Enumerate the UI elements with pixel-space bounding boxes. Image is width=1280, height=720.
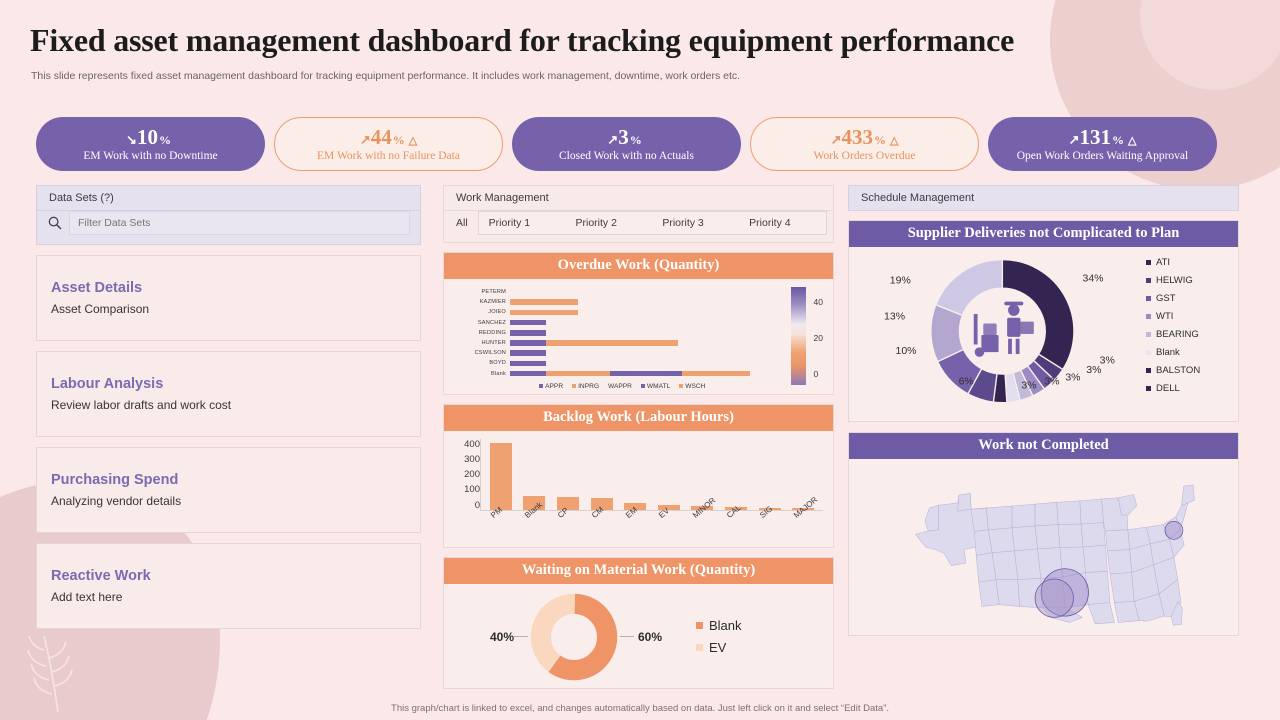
backlog-y-tick: 0 <box>454 500 480 511</box>
trend-up-arrow-icon: ↗ <box>607 133 618 147</box>
overdue-bar-segment <box>510 361 546 367</box>
overdue-row: HUNTER <box>454 338 791 348</box>
filter-data-sets-input[interactable] <box>69 211 410 235</box>
legend-label: DELL <box>1156 383 1180 394</box>
legend-swatch <box>539 384 543 388</box>
donut-value-label: 3% <box>1021 380 1036 391</box>
legend-swatch <box>1146 386 1151 391</box>
backlog-y-tick: 200 <box>454 469 480 480</box>
overdue-legend-item: INPRG <box>572 383 599 390</box>
work-not-completed-card: Work not Completed <box>848 432 1239 636</box>
overdue-legend-item: WSCH <box>679 383 705 390</box>
overdue-bar-segment <box>546 340 610 346</box>
kpi-label: Open Work Orders Waiting Approval <box>1017 150 1188 162</box>
kpi-label: EM Work with no Failure Data <box>317 150 460 162</box>
donut-value-label: 3% <box>1065 373 1080 384</box>
backlog-y-tick: 400 <box>454 439 480 450</box>
alert-triangle-icon: △ <box>890 136 898 148</box>
backlog-y-tick: 300 <box>454 454 480 465</box>
overdue-row-label: JOIEO <box>454 309 510 315</box>
overdue-row-track <box>510 287 791 297</box>
overdue-bar-segment <box>510 371 546 377</box>
legend-label: BALSTON <box>1156 365 1200 376</box>
trend-up-arrow-icon: ↗ <box>831 133 842 147</box>
legend-label-blank: Blank <box>709 618 742 633</box>
supplier-legend-item: BALSTON <box>1146 365 1232 376</box>
tab-priority-1[interactable]: Priority 1 <box>479 212 566 234</box>
sidebar-item-title: Purchasing Spend <box>51 472 420 488</box>
delivery-worker-icon <box>974 302 1034 357</box>
legend-swatch <box>1146 278 1151 283</box>
us-map-graphic <box>879 467 1209 627</box>
waiting-material-legend: Blank EV <box>682 618 742 655</box>
supplier-deliveries-title: Supplier Deliveries not Complicated to P… <box>849 221 1238 247</box>
overdue-row-label: KAZMIER <box>454 299 510 305</box>
legend-swatch <box>1146 350 1151 355</box>
search-icon <box>47 215 63 231</box>
overdue-row-label: Blank <box>454 371 510 377</box>
work-not-completed-title: Work not Completed <box>849 433 1238 459</box>
kpi-value: ↘10% <box>126 126 175 148</box>
overdue-row: CSWILSON <box>454 348 791 358</box>
tab-priority-2[interactable]: Priority 2 <box>566 212 653 234</box>
overdue-row-label: REDDING <box>454 330 510 336</box>
tab-priority-3[interactable]: Priority 3 <box>652 212 739 234</box>
legend-swatch <box>641 384 645 388</box>
overdue-bar-segment <box>510 299 578 305</box>
overdue-bar-segment <box>610 371 682 377</box>
legend-label: WTI <box>1156 311 1173 322</box>
supplier-deliveries-legend: ATIHELWIGGSTWTIBEARINGBlankBALSTONDELL <box>1146 251 1232 417</box>
trend-down-arrow-icon: ↘ <box>126 133 137 147</box>
overdue-work-colorbar: 40200 <box>791 287 823 390</box>
backlog-work-title: Backlog Work (Labour Hours) <box>444 405 833 431</box>
us-map[interactable] <box>849 459 1238 635</box>
legend-swatch <box>1146 314 1151 319</box>
legend-label: INPRG <box>578 383 599 390</box>
donut-value-label: 3% <box>1100 356 1115 367</box>
waiting-material-label-right: 60% <box>634 630 682 644</box>
legend-label: GST <box>1156 293 1176 304</box>
donut-slice[interactable] <box>936 260 1003 316</box>
overdue-row: BOYD <box>454 358 791 368</box>
sidebar-item-subtitle: Add text here <box>51 590 420 604</box>
overdue-legend-item: APPR <box>539 383 563 390</box>
overdue-row-track <box>510 348 791 358</box>
data-sets-panel-title: Data Sets (?) <box>36 185 421 211</box>
legend-label: BEARING <box>1156 329 1199 340</box>
donut-value-label: 6% <box>959 377 974 388</box>
legend-swatch-ev <box>696 644 703 651</box>
colorbar-gradient <box>791 287 806 385</box>
schedule-management-title: Schedule Management <box>848 185 1239 211</box>
kpi-card-em-work-no-downtime[interactable]: ↘10% EM Work with no Downtime <box>36 117 265 171</box>
supplier-legend-item: GST <box>1146 293 1232 304</box>
supplier-deliveries-donut[interactable]: 34%3%3%3%3%3%6%10%13%19% <box>853 251 1146 417</box>
supplier-legend-item: BEARING <box>1146 329 1232 340</box>
kpi-label: Work Orders Overdue <box>814 150 916 162</box>
overdue-row: REDDING <box>454 328 791 338</box>
data-sets-panel: Data Sets (?) Asset Details Asset Compar… <box>36 185 421 629</box>
backlog-y-tick: 100 <box>454 484 480 495</box>
legend-swatch <box>1146 368 1151 373</box>
sidebar-item-title: Reactive Work <box>51 568 420 584</box>
kpi-card-closed-work-no-actuals[interactable]: ↗3% Closed Work with no Actuals <box>512 117 741 171</box>
waiting-material-card: Waiting on Material Work (Quantity) 40% … <box>443 557 834 689</box>
backlog-bar[interactable] <box>490 443 512 510</box>
overdue-row: Blank <box>454 369 791 379</box>
overdue-work-legend: APPRINPRGWAPPRWMATLWSCH <box>454 383 791 390</box>
sidebar-item-subtitle: Asset Comparison <box>51 302 420 316</box>
overdue-bar-segment <box>510 340 546 346</box>
overdue-row-track <box>510 369 791 379</box>
donut-value-label: 3% <box>1044 377 1059 388</box>
overdue-work-card: Overdue Work (Quantity) PETERMKAZMIERJOI… <box>443 252 834 395</box>
legend-swatch <box>1146 260 1151 265</box>
page-subtitle: This slide represents fixed asset manage… <box>31 70 740 82</box>
donut-value-label: 34% <box>1083 274 1104 285</box>
overdue-legend-item: WAPPR <box>608 383 632 390</box>
overdue-bar-segment <box>546 371 610 377</box>
priority-tabs: All Priority 1 Priority 2 Priority 3 Pri… <box>443 211 834 243</box>
backlog-x-axis: PMBlankCPCMEMEVMINORCALSIGMAJOR <box>454 511 823 545</box>
overdue-bar-segment <box>510 320 546 326</box>
kpi-value: ↗131%△ <box>1069 126 1137 148</box>
sidebar-item-title: Labour Analysis <box>51 376 420 392</box>
legend-swatch-blank <box>696 622 703 629</box>
overdue-bar-segment <box>510 310 578 316</box>
sidebar-item-labour-analysis[interactable]: Labour Analysis Review labor drafts and … <box>36 351 421 437</box>
overdue-row-track <box>510 297 791 307</box>
overdue-row-label: PETERM <box>454 289 510 295</box>
dashboard-page: Fixed asset management dashboard for tra… <box>0 0 1280 720</box>
overdue-work-plot[interactable]: PETERMKAZMIERJOIEOSANCHEZREDDINGHUNTERCS… <box>454 287 791 390</box>
overdue-bar-segment <box>610 340 678 346</box>
overdue-row-track <box>510 328 791 338</box>
overdue-row: KAZMIER <box>454 297 791 307</box>
waiting-material-title: Waiting on Material Work (Quantity) <box>444 558 833 584</box>
colorbar-tick: 20 <box>814 333 823 343</box>
legend-label: WAPPR <box>608 383 632 390</box>
donut-value-label: 10% <box>896 346 917 357</box>
waiting-material-label-left: 40% <box>454 630 514 644</box>
footer-note: This graph/chart is linked to excel, and… <box>0 703 1280 714</box>
overdue-row: PETERM <box>454 287 791 297</box>
legend-swatch <box>679 384 683 388</box>
sidebar-item-title: Asset Details <box>51 280 420 296</box>
kpi-card-em-work-no-failure-data[interactable]: ↗44%△ EM Work with no Failure Data <box>274 117 503 171</box>
overdue-row-track <box>510 318 791 328</box>
colorbar-tick: 0 <box>814 369 823 379</box>
donut-value-label: 19% <box>890 275 911 286</box>
legend-swatch <box>572 384 576 388</box>
legend-label: WMATL <box>647 383 670 390</box>
work-management-panel: Work Management All Priority 1 Priority … <box>443 185 834 689</box>
overdue-row-label: BOYD <box>454 360 510 366</box>
kpi-card-open-work-orders-waiting-approval[interactable]: ↗131%△ Open Work Orders Waiting Approval <box>988 117 1217 171</box>
legend-label: APPR <box>545 383 563 390</box>
legend-label: WSCH <box>685 383 705 390</box>
donut-value-label: 3% <box>1086 365 1101 376</box>
supplier-deliveries-card: Supplier Deliveries not Complicated to P… <box>848 220 1239 422</box>
overdue-bar-segment <box>510 330 546 336</box>
page-title: Fixed asset management dashboard for tra… <box>30 22 1014 59</box>
overdue-bar-segment <box>510 350 546 356</box>
supplier-legend-item: WTI <box>1146 311 1232 322</box>
kpi-row: ↘10% EM Work with no Downtime ↗44%△ EM W… <box>36 117 1217 171</box>
backlog-y-axis: 4003002001000 <box>454 439 480 511</box>
legend-label-ev: EV <box>709 640 726 655</box>
sidebar-item-asset-details[interactable]: Asset Details Asset Comparison <box>36 255 421 341</box>
colorbar-ticks: 40200 <box>806 287 823 385</box>
overdue-work-title: Overdue Work (Quantity) <box>444 253 833 279</box>
kpi-value: ↗44%△ <box>360 126 417 148</box>
trend-up-arrow-icon: ↗ <box>360 133 371 147</box>
supplier-legend-item: HELWIG <box>1146 275 1232 286</box>
sidebar-item-subtitle: Analyzing vendor details <box>51 494 420 508</box>
overdue-bar-segment <box>682 371 750 377</box>
overdue-row-label: HUNTER <box>454 340 510 346</box>
supplier-legend-item: DELL <box>1146 383 1232 394</box>
legend-swatch <box>1146 296 1151 301</box>
legend-label: Blank <box>1156 347 1180 358</box>
legend-label: HELWIG <box>1156 275 1193 286</box>
legend-label: ATI <box>1156 257 1170 268</box>
supplier-legend-item: Blank <box>1146 347 1232 358</box>
sidebar-item-reactive-work[interactable]: Reactive Work Add text here <box>36 543 421 629</box>
overdue-row-label: SANCHEZ <box>454 320 510 326</box>
overdue-row-track <box>510 338 791 348</box>
work-management-title: Work Management <box>443 185 834 211</box>
tab-all[interactable]: All <box>452 213 478 233</box>
overdue-row-track <box>510 307 791 317</box>
sidebar-item-subtitle: Review labor drafts and work cost <box>51 398 420 412</box>
kpi-label: Closed Work with no Actuals <box>559 150 694 162</box>
overdue-row: SANCHEZ <box>454 318 791 328</box>
trend-up-arrow-icon: ↗ <box>1069 133 1080 147</box>
donut-value-label: 13% <box>884 312 905 323</box>
supplier-legend-item: ATI <box>1146 257 1232 268</box>
colorbar-tick: 40 <box>814 297 823 307</box>
kpi-value: ↗433%△ <box>831 126 899 148</box>
kpi-label: EM Work with no Downtime <box>83 150 217 162</box>
waiting-material-donut[interactable] <box>528 591 620 683</box>
legend-swatch <box>1146 332 1151 337</box>
overdue-legend-item: WMATL <box>641 383 670 390</box>
leaf-ornament-icon <box>18 624 88 714</box>
overdue-row: JOIEO <box>454 307 791 317</box>
kpi-card-work-orders-overdue[interactable]: ↗433%△ Work Orders Overdue <box>750 117 979 171</box>
alert-triangle-icon: △ <box>1128 136 1136 148</box>
kpi-value: ↗3% <box>607 126 645 148</box>
overdue-row-track <box>510 358 791 368</box>
overdue-row-label: CSWILSON <box>454 350 510 356</box>
alert-triangle-icon: △ <box>409 136 417 148</box>
filter-row <box>36 211 421 245</box>
backlog-work-card: Backlog Work (Labour Hours) 400300200100… <box>443 404 834 548</box>
tab-priority-4[interactable]: Priority 4 <box>739 212 826 234</box>
schedule-management-panel: Schedule Management Supplier Deliveries … <box>848 185 1239 636</box>
sidebar-item-purchasing-spend[interactable]: Purchasing Spend Analyzing vendor detail… <box>36 447 421 533</box>
